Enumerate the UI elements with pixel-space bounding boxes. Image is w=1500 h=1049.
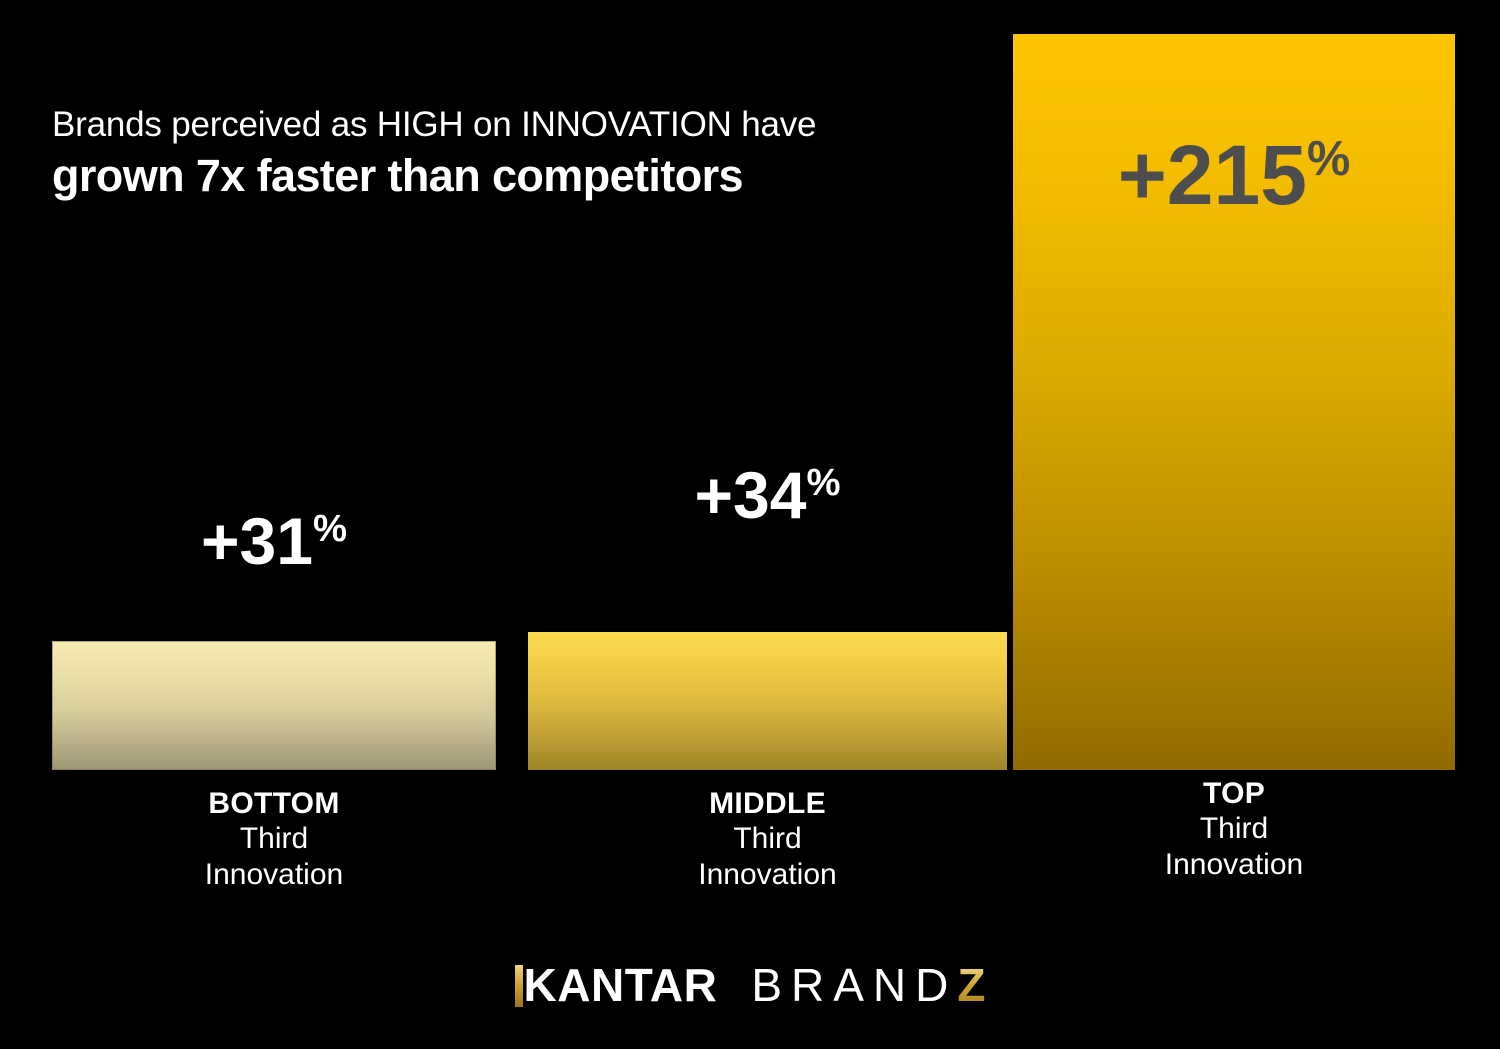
category-sub2-middle: Innovation [528, 857, 1007, 892]
bar-plot-area: +31% +34% +215% [0, 0, 1500, 770]
logo-kantar-wordmark: KANTAR [515, 962, 718, 1008]
bar-bottom-third-fill [52, 641, 496, 770]
chart-canvas: Brands perceived as HIGH on INNOVATION h… [0, 0, 1500, 1049]
value-top-third-unit: % [1307, 132, 1350, 186]
logo-kantar-text: KANTAR [515, 959, 718, 1011]
logo-z-text: Z [957, 962, 985, 1008]
logo-brand-text: BRAND [751, 962, 957, 1008]
value-middle-third-number: +34 [695, 458, 807, 532]
category-label-top-third: TOP Third Innovation [1013, 776, 1455, 882]
category-sub1-bottom: Third [52, 821, 496, 856]
category-sub1-middle: Third [528, 821, 1007, 856]
value-label-middle-third: +34% [528, 462, 1007, 528]
value-label-top-third: +215% [1013, 133, 1455, 217]
bar-middle-third[interactable] [528, 632, 1007, 770]
category-rank-top: TOP [1013, 776, 1455, 811]
value-label-bottom-third: +31% [52, 508, 496, 574]
category-rank-bottom: BOTTOM [52, 786, 496, 821]
value-bottom-third-number: +31 [201, 504, 313, 578]
bar-bottom-third[interactable] [52, 641, 496, 770]
kantar-brandz-logo: KANTAR BRAND Z [0, 962, 1500, 1008]
category-sub1-top: Third [1013, 811, 1455, 846]
bar-middle-third-fill [528, 632, 1007, 770]
value-top-third-number: +215 [1118, 128, 1307, 222]
category-label-middle-third: MIDDLE Third Innovation [528, 786, 1007, 892]
category-sub2-bottom: Innovation [52, 857, 496, 892]
value-bottom-third-unit: % [313, 507, 347, 550]
category-sub2-top: Innovation [1013, 847, 1455, 882]
category-label-bottom-third: BOTTOM Third Innovation [52, 786, 496, 892]
value-middle-third-unit: % [806, 461, 840, 504]
category-rank-middle: MIDDLE [528, 786, 1007, 821]
